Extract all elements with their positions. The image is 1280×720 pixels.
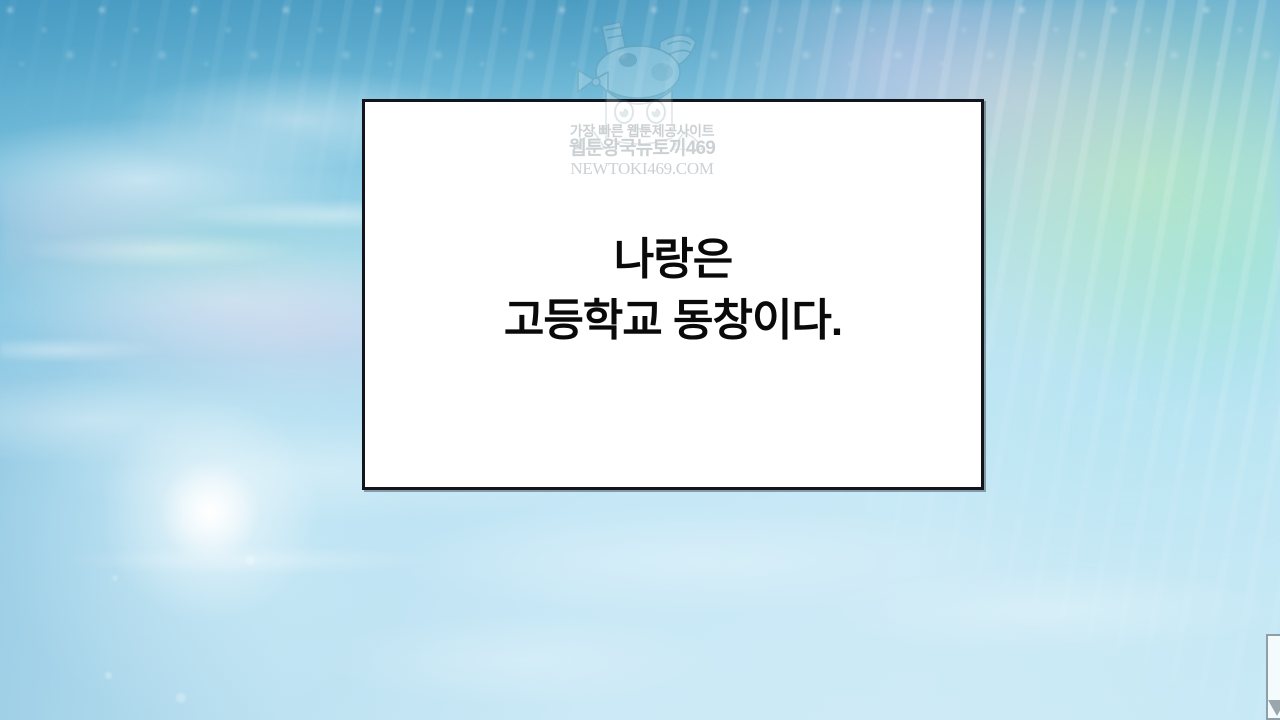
- dialogue-panel: 나랑은 고등학교 동창이다.: [362, 99, 984, 490]
- next-panel-tail-icon: [1268, 700, 1280, 716]
- panel-dialogue-text: 나랑은 고등학교 동창이다.: [365, 230, 981, 351]
- lens-flare-speck: [176, 693, 186, 703]
- lens-flare-speck: [105, 672, 112, 679]
- lens-flare-speck: [112, 575, 118, 581]
- webtoon-page: 나랑은 고등학교 동창이다.: [0, 0, 1280, 720]
- lens-flare-speck: [246, 556, 255, 565]
